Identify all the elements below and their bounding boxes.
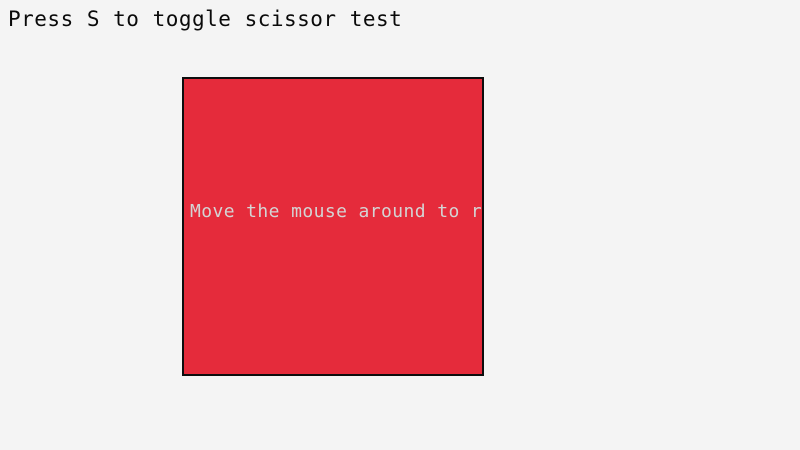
scissor-clipped-text: Move the mouse around to r: [190, 201, 482, 223]
instruction-label: Press S to toggle scissor test: [8, 6, 402, 32]
scissor-rectangle[interactable]: Move the mouse around to r: [182, 77, 484, 376]
demo-canvas: Press S to toggle scissor test Move the …: [0, 0, 800, 450]
